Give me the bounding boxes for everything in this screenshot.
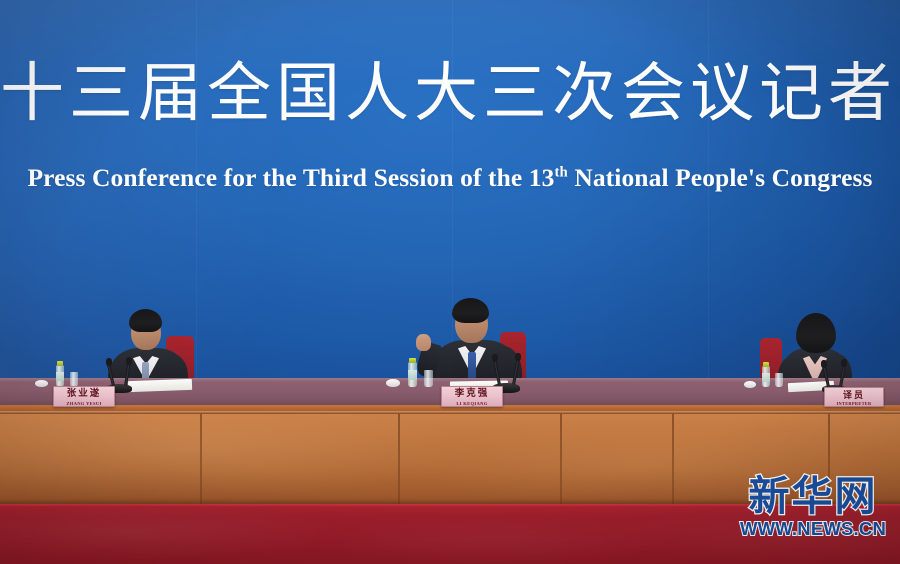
banner-title-chinese: 十三届全国人大三次会议记者会 <box>0 62 900 126</box>
banner-en-superscript: th <box>555 165 568 181</box>
microphone-head-right-a <box>821 360 827 368</box>
nameplate-left-cn: 张业遂 <box>54 390 114 400</box>
microphone-head-left-b <box>126 357 132 365</box>
nameplate-right-en: INTERPRETER <box>825 402 883 406</box>
drinking-glass-right <box>775 373 783 387</box>
table-panel-seam <box>828 414 830 506</box>
tea-cup-center <box>386 379 400 387</box>
bottle-label-left <box>56 372 64 381</box>
press-conference-photo: 十三届全国人大三次会议记者会 Press Conference for the … <box>0 0 900 564</box>
hair-left <box>129 309 162 332</box>
banner-en-before: Press Conference for the Third Session o… <box>27 163 554 192</box>
tea-cup-left <box>35 380 48 387</box>
hair-right <box>796 313 836 353</box>
microphone-head-right-b <box>841 359 847 367</box>
nameplate-left-en: ZHANG YESUI <box>54 402 114 407</box>
nameplate-right-cn: 译员 <box>825 391 883 400</box>
nameplate-left: 张业遂 ZHANG YESUI <box>53 386 115 407</box>
nameplate-center-cn: 李克强 <box>442 390 502 400</box>
drinking-glass-center <box>424 370 433 387</box>
banner-en-after: National People's Congress <box>568 163 873 192</box>
red-carpet <box>0 506 900 564</box>
bottle-cap-left <box>57 361 63 366</box>
paper-document-left <box>128 379 192 392</box>
banner-title-english: Press Conference for the Third Session o… <box>0 163 900 193</box>
bottle-cap-right <box>763 362 769 367</box>
hair-center <box>452 298 489 323</box>
tea-cup-right <box>744 381 756 388</box>
nameplate-center-en: LI KEQIANG <box>442 402 502 407</box>
drinking-glass-left <box>70 372 78 387</box>
microphone-head-left-a <box>106 358 112 366</box>
table-panel-seam <box>200 414 202 506</box>
conference-table-front <box>0 414 900 506</box>
bottle-label-right <box>762 373 770 382</box>
bottle-label-center <box>408 370 417 380</box>
bottle-cap-center <box>409 358 416 363</box>
raised-hand-center <box>416 334 431 351</box>
table-panel-seam <box>398 414 400 506</box>
nameplate-right: 译员 INTERPRETER <box>824 387 884 407</box>
table-panel-seam <box>672 414 674 506</box>
table-panel-seam <box>560 414 562 506</box>
microphone-head-center-a <box>492 354 498 362</box>
nameplate-center: 李克强 LI KEQIANG <box>441 386 503 407</box>
microphone-head-center-b <box>515 353 521 361</box>
